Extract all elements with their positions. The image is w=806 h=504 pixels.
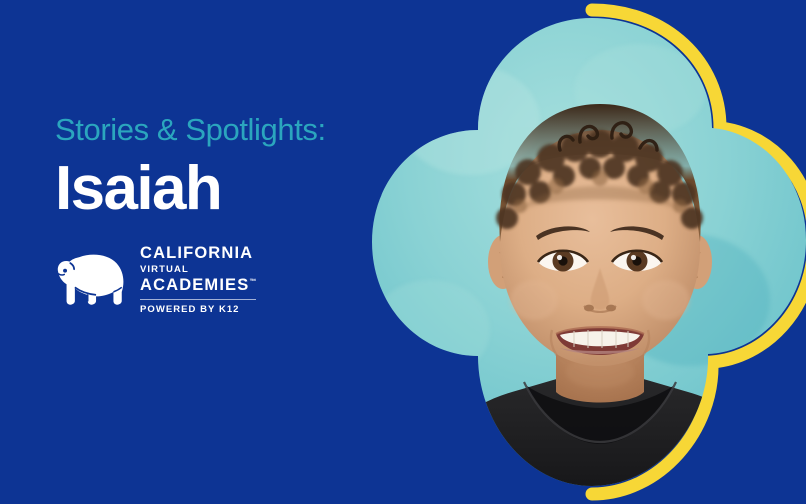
student-portrait [360, 0, 806, 504]
logo-line-virtual: VIRTUAL [140, 263, 256, 277]
logo-divider [140, 299, 256, 300]
trademark-icon: ™ [249, 279, 256, 286]
eyebrow-label: Stories & Spotlights: [55, 112, 326, 148]
text-panel: Stories & Spotlights: Isaiah CALIFORNIA … [0, 0, 400, 504]
logo-wordmark: CALIFORNIA VIRTUAL ACADEMIES™ POWERED BY… [140, 243, 256, 316]
polar-bear-icon [52, 248, 128, 310]
cava-logo[interactable]: CALIFORNIA VIRTUAL ACADEMIES™ POWERED BY… [52, 243, 256, 316]
logo-line-california: CALIFORNIA [140, 245, 256, 262]
logo-line-academies: ACADEMIES™ [140, 277, 256, 294]
page-title: Isaiah [55, 158, 221, 220]
logo-academies-word: ACADEMIES [140, 276, 249, 294]
stories-spotlights-banner: Stories & Spotlights: Isaiah CALIFORNIA … [0, 0, 806, 504]
logo-line-powered-by: POWERED BY K12 [140, 304, 256, 315]
